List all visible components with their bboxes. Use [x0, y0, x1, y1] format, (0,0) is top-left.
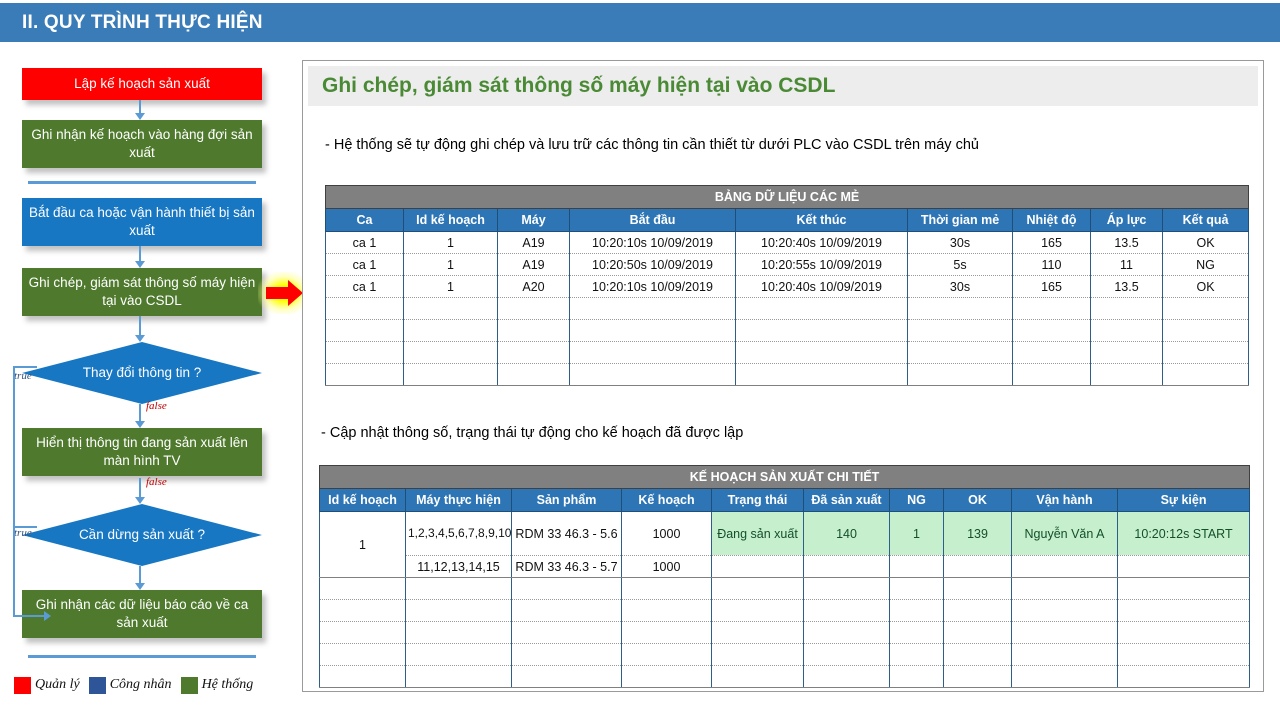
cell-empty[interactable]	[712, 622, 804, 644]
col-header-ca[interactable]: Ca	[326, 209, 404, 232]
edge-label-true-2: true	[14, 527, 32, 539]
true-branch-stub-1	[13, 366, 37, 368]
cell-empty[interactable]	[804, 644, 890, 666]
table-row-empty[interactable]	[320, 578, 1250, 600]
cell-empty[interactable]	[326, 342, 404, 364]
table-title-row: KẾ HOẠCH SẢN XUẤT CHI TIẾT	[320, 466, 1250, 489]
section-divider-bottom	[28, 655, 256, 658]
cell-empty[interactable]	[1091, 342, 1163, 364]
col-header-plan[interactable]: Kế hoạch	[622, 489, 712, 512]
table-title: BẢNG DỮ LIỆU CÁC MẺ	[326, 186, 1249, 209]
cell-empty[interactable]	[1091, 364, 1163, 386]
table-row-empty[interactable]	[326, 342, 1249, 364]
cell-empty[interactable]	[622, 600, 712, 622]
cell-empty[interactable]	[512, 600, 622, 622]
cell-empty[interactable]	[326, 320, 404, 342]
cell-empty[interactable]	[944, 666, 1012, 688]
flow-node-show-tv[interactable]: Hiển thị thông tin đang sản xuất lên màn…	[22, 428, 262, 476]
table-row-empty[interactable]	[320, 600, 1250, 622]
cell-empty[interactable]	[908, 320, 1013, 342]
cell-empty[interactable]	[890, 600, 944, 622]
cell-operator[interactable]: Nguyễn Văn A	[1012, 512, 1118, 556]
table-row[interactable]: ca 1 1 A19 10:20:50s 10/09/2019 10:20:55…	[326, 254, 1249, 276]
col-header-start[interactable]: Bắt đầu	[570, 209, 736, 232]
cell-empty[interactable]	[736, 342, 908, 364]
col-header-machines[interactable]: Máy thực hiện	[406, 489, 512, 512]
col-header-plan-id[interactable]: Id kế hoạch	[320, 489, 406, 512]
cell-empty[interactable]	[512, 578, 622, 600]
cell-empty[interactable]	[404, 320, 498, 342]
cell-empty[interactable]	[498, 320, 570, 342]
cell-ca[interactable]: ca 1	[326, 232, 404, 254]
cell-empty[interactable]	[712, 600, 804, 622]
col-header-pressure[interactable]: Áp lực	[1091, 209, 1163, 232]
table-title: KẾ HOẠCH SẢN XUẤT CHI TIẾT	[320, 466, 1250, 489]
cell-empty[interactable]	[406, 622, 512, 644]
cell-empty[interactable]	[320, 666, 406, 688]
cell-empty[interactable]	[890, 666, 944, 688]
flow-node-record[interactable]: Ghi chép, giám sát thông số máy hiện tại…	[22, 268, 262, 316]
cell-temperature[interactable]: 165	[1013, 276, 1091, 298]
cell-empty[interactable]	[944, 600, 1012, 622]
cell-empty[interactable]	[712, 578, 804, 600]
cell-empty[interactable]	[804, 600, 890, 622]
flow-node-label: Ghi chép, giám sát thông số máy hiện tại…	[28, 274, 256, 310]
table-row-empty[interactable]	[320, 644, 1250, 666]
cell-empty[interactable]	[890, 578, 944, 600]
cell-batch-time[interactable]: 30s	[908, 276, 1013, 298]
cell-machines[interactable]: 1,2,3,4,5,6,7,8,9,10	[406, 512, 512, 556]
cell-empty[interactable]	[570, 320, 736, 342]
cell-plan-id[interactable]: 1	[320, 512, 406, 578]
legend-item-manager: Quản lý	[14, 677, 80, 694]
legend-swatch-manager	[14, 677, 31, 694]
table-row-empty[interactable]	[326, 320, 1249, 342]
cell-event[interactable]	[1118, 556, 1250, 578]
col-header-product[interactable]: Sản phẩm	[512, 489, 622, 512]
flow-node-label: Thay đổi thông tin ?	[83, 364, 202, 382]
cell-empty[interactable]	[406, 578, 512, 600]
arrowhead-icon	[135, 113, 145, 120]
table-production-plan[interactable]: KẾ HOẠCH SẢN XUẤT CHI TIẾT Id kế hoạch M…	[319, 465, 1250, 688]
table-header-row: Ca Id kế hoạch Máy Bắt đầu Kết thúc Thời…	[326, 209, 1249, 232]
cell-machine[interactable]: A20	[498, 276, 570, 298]
edge-label-false-1: false	[146, 400, 167, 412]
cell-empty[interactable]	[498, 364, 570, 386]
panel-note-2: - Cập nhật thông số, trạng thái tự động …	[321, 425, 743, 441]
cell-empty[interactable]	[1012, 622, 1118, 644]
col-header-plan-id[interactable]: Id kế hoạch	[404, 209, 498, 232]
cell-empty[interactable]	[1091, 320, 1163, 342]
cell-empty[interactable]	[622, 666, 712, 688]
col-header-batch-time[interactable]: Thời gian mẻ	[908, 209, 1013, 232]
cell-pressure[interactable]: 13.5	[1091, 232, 1163, 254]
cell-empty[interactable]	[404, 342, 498, 364]
cell-plan-id[interactable]: 1	[404, 276, 498, 298]
cell-empty[interactable]	[736, 320, 908, 342]
cell-empty[interactable]	[512, 622, 622, 644]
cell-empty[interactable]	[908, 342, 1013, 364]
cell-plan[interactable]: 1000	[622, 556, 712, 578]
edge-label-false-2: false	[146, 476, 167, 488]
cell-plan[interactable]: 1000	[622, 512, 712, 556]
cell-empty[interactable]	[804, 578, 890, 600]
cell-empty[interactable]	[406, 644, 512, 666]
flow-node-label: Hiển thị thông tin đang sản xuất lên màn…	[28, 434, 256, 470]
cell-end[interactable]: 10:20:40s 10/09/2019	[736, 276, 908, 298]
cell-empty[interactable]	[326, 298, 404, 320]
panel-title: Ghi chép, giám sát thông số máy hiện tại…	[322, 74, 835, 98]
cell-empty[interactable]	[512, 644, 622, 666]
cell-empty[interactable]	[712, 666, 804, 688]
cell-machine[interactable]: A19	[498, 254, 570, 276]
table-row-empty[interactable]	[320, 622, 1250, 644]
cell-produced[interactable]: 140	[804, 512, 890, 556]
cell-ng[interactable]	[890, 556, 944, 578]
cell-empty[interactable]	[1163, 320, 1249, 342]
cell-empty[interactable]	[1118, 578, 1250, 600]
cell-empty[interactable]	[1118, 600, 1250, 622]
cell-result[interactable]: NG	[1163, 254, 1249, 276]
cell-empty[interactable]	[498, 298, 570, 320]
cell-ok[interactable]	[944, 556, 1012, 578]
flow-node-report[interactable]: Ghi nhận các dữ liệu báo cáo về ca sản x…	[22, 590, 262, 638]
cell-result[interactable]: OK	[1163, 232, 1249, 254]
flow-node-queue[interactable]: Ghi nhận kế hoạch vào hàng đợi sản xuất	[22, 120, 262, 168]
col-header-end[interactable]: Kết thúc	[736, 209, 908, 232]
cell-product[interactable]: RDM 33 46.3 - 5.7	[512, 556, 622, 578]
table-row-empty[interactable]	[326, 364, 1249, 386]
flow-node-start-shift[interactable]: Bắt đầu ca hoặc vận hành thiết bị sản xu…	[22, 198, 262, 246]
table-row[interactable]: ca 1 1 A19 10:20:10s 10/09/2019 10:20:40…	[326, 232, 1249, 254]
cell-empty[interactable]	[406, 600, 512, 622]
col-header-operator[interactable]: Vận hành	[1012, 489, 1118, 512]
detail-panel: Ghi chép, giám sát thông số máy hiện tại…	[302, 60, 1264, 692]
cell-empty[interactable]	[622, 578, 712, 600]
cell-empty[interactable]	[1013, 342, 1091, 364]
flow-decision-need-stop[interactable]: Cần dừng sản xuất ?	[22, 504, 262, 566]
cell-ca[interactable]: ca 1	[326, 276, 404, 298]
cell-empty[interactable]	[890, 622, 944, 644]
cell-machines[interactable]: 11,12,13,14,15	[406, 556, 512, 578]
cell-empty[interactable]	[1012, 600, 1118, 622]
cell-empty[interactable]	[320, 622, 406, 644]
flow-node-label: Lập kế hoạch sản xuất	[74, 75, 210, 93]
col-header-produced[interactable]: Đã sản xuất	[804, 489, 890, 512]
cell-empty[interactable]	[570, 342, 736, 364]
cell-result[interactable]: OK	[1163, 276, 1249, 298]
cell-empty[interactable]	[326, 364, 404, 386]
table-row[interactable]: ca 1 1 A20 10:20:10s 10/09/2019 10:20:40…	[326, 276, 1249, 298]
cell-empty[interactable]	[320, 600, 406, 622]
arrowhead-icon	[135, 335, 145, 342]
true-branch-stub-2	[13, 526, 37, 528]
arrowhead-icon	[135, 261, 145, 268]
cell-empty[interactable]	[736, 298, 908, 320]
cell-empty[interactable]	[890, 644, 944, 666]
cell-start[interactable]: 10:20:10s 10/09/2019	[570, 276, 736, 298]
panel-header: Ghi chép, giám sát thông số máy hiện tại…	[308, 66, 1258, 106]
cell-ng[interactable]: 1	[890, 512, 944, 556]
legend-label-manager: Quản lý	[35, 677, 80, 693]
table-row-empty[interactable]	[326, 298, 1249, 320]
col-header-result[interactable]: Kết quả	[1163, 209, 1249, 232]
cell-end[interactable]: 10:20:55s 10/09/2019	[736, 254, 908, 276]
flow-node-label: Bắt đầu ca hoặc vận hành thiết bị sản xu…	[28, 204, 256, 240]
cell-empty[interactable]	[944, 578, 1012, 600]
table-header-row: Id kế hoạch Máy thực hiện Sản phẩm Kế ho…	[320, 489, 1250, 512]
arrow-head	[288, 280, 303, 306]
col-header-temperature[interactable]: Nhiệt độ	[1013, 209, 1091, 232]
cell-operator[interactable]	[1012, 556, 1118, 578]
cell-empty[interactable]	[1163, 364, 1249, 386]
cell-empty[interactable]	[1012, 666, 1118, 688]
arrowhead-icon	[44, 611, 51, 621]
cell-empty[interactable]	[1118, 622, 1250, 644]
table-row[interactable]: 1 1,2,3,4,5,6,7,8,9,10 RDM 33 46.3 - 5.6…	[320, 512, 1250, 556]
cell-empty[interactable]	[944, 644, 1012, 666]
arrowhead-icon	[135, 421, 145, 428]
cell-empty[interactable]	[406, 666, 512, 688]
legend: Quản lý Công nhân Hệ thống	[14, 672, 314, 698]
cell-empty[interactable]	[908, 364, 1013, 386]
cell-empty[interactable]	[1013, 320, 1091, 342]
cell-machine[interactable]: A19	[498, 232, 570, 254]
flow-node-label: Cần dừng sản xuất ?	[79, 526, 205, 544]
cell-empty[interactable]	[404, 364, 498, 386]
legend-item-system: Hệ thống	[181, 677, 254, 694]
cell-batch-time[interactable]: 30s	[908, 232, 1013, 254]
cell-plan-id[interactable]: 1	[404, 254, 498, 276]
legend-label-worker: Công nhân	[110, 677, 172, 693]
cell-ok[interactable]: 139	[944, 512, 1012, 556]
cell-empty[interactable]	[1012, 644, 1118, 666]
table-title-row: BẢNG DỮ LIỆU CÁC MẺ	[326, 186, 1249, 209]
cell-empty[interactable]	[1163, 342, 1249, 364]
cell-status[interactable]: Đang sản xuất	[712, 512, 804, 556]
table-row[interactable]: 11,12,13,14,15 RDM 33 46.3 - 5.7 1000	[320, 556, 1250, 578]
page-title-bar: II. QUY TRÌNH THỰC HIỆN	[0, 3, 1280, 42]
cell-empty[interactable]	[1163, 298, 1249, 320]
flow-node-label: Ghi nhận các dữ liệu báo cáo về ca sản x…	[28, 596, 256, 632]
col-header-event[interactable]: Sự kiện	[1118, 489, 1250, 512]
panel-note-1: - Hệ thống sẽ tự động ghi chép và lưu tr…	[325, 137, 979, 153]
cell-empty[interactable]	[1013, 364, 1091, 386]
arrowhead-icon	[135, 497, 145, 504]
table-batches[interactable]: BẢNG DỮ LIỆU CÁC MẺ Ca Id kế hoạch Máy B…	[325, 185, 1249, 386]
cell-empty[interactable]	[1118, 666, 1250, 688]
cell-empty[interactable]	[570, 298, 736, 320]
cell-empty[interactable]	[622, 644, 712, 666]
flow-decision-change-info[interactable]: Thay đổi thông tin ?	[22, 342, 262, 404]
cell-ca[interactable]: ca 1	[326, 254, 404, 276]
cell-empty[interactable]	[622, 622, 712, 644]
col-header-machine[interactable]: Máy	[498, 209, 570, 232]
arrowhead-icon	[135, 583, 145, 590]
cell-pressure[interactable]: 13.5	[1091, 276, 1163, 298]
cell-start[interactable]: 10:20:10s 10/09/2019	[570, 232, 736, 254]
edge-label-true-1: true	[14, 370, 32, 382]
cell-empty[interactable]	[804, 666, 890, 688]
cell-empty[interactable]	[512, 666, 622, 688]
legend-swatch-system	[181, 677, 198, 694]
col-header-ng[interactable]: NG	[890, 489, 944, 512]
page-title: II. QUY TRÌNH THỰC HIỆN	[22, 12, 263, 34]
cell-empty[interactable]	[736, 364, 908, 386]
table-row-empty[interactable]	[320, 666, 1250, 688]
cell-status[interactable]	[712, 556, 804, 578]
cell-empty[interactable]	[908, 298, 1013, 320]
cell-empty[interactable]	[498, 342, 570, 364]
cell-event[interactable]: 10:20:12s START	[1118, 512, 1250, 556]
cell-end[interactable]: 10:20:40s 10/09/2019	[736, 232, 908, 254]
cell-start[interactable]: 10:20:50s 10/09/2019	[570, 254, 736, 276]
legend-swatch-worker	[89, 677, 106, 694]
legend-label-system: Hệ thống	[202, 677, 254, 693]
cell-empty[interactable]	[570, 364, 736, 386]
cell-empty[interactable]	[320, 644, 406, 666]
cell-temperature[interactable]: 110	[1013, 254, 1091, 276]
cell-empty[interactable]	[404, 298, 498, 320]
cell-product[interactable]: RDM 33 46.3 - 5.6	[512, 512, 622, 556]
cell-empty[interactable]	[712, 644, 804, 666]
legend-item-worker: Công nhân	[89, 677, 172, 694]
true-branch-rail-1	[13, 366, 15, 616]
cell-pressure[interactable]: 11	[1091, 254, 1163, 276]
cell-produced[interactable]	[804, 556, 890, 578]
cell-empty[interactable]	[944, 622, 1012, 644]
cell-empty[interactable]	[1091, 298, 1163, 320]
cell-batch-time[interactable]: 5s	[908, 254, 1013, 276]
col-header-status[interactable]: Trạng thái	[712, 489, 804, 512]
cell-empty[interactable]	[320, 578, 406, 600]
cell-empty[interactable]	[1012, 578, 1118, 600]
cell-empty[interactable]	[1013, 298, 1091, 320]
cell-plan-id[interactable]: 1	[404, 232, 498, 254]
flow-node-plan[interactable]: Lập kế hoạch sản xuất	[22, 68, 262, 100]
col-header-ok[interactable]: OK	[944, 489, 1012, 512]
section-divider-top	[28, 181, 256, 184]
arrow-shaft	[266, 287, 290, 299]
process-flowchart: Lập kế hoạch sản xuất Ghi nhận kế hoạch …	[0, 48, 300, 668]
cell-empty[interactable]	[804, 622, 890, 644]
flow-node-label: Ghi nhận kế hoạch vào hàng đợi sản xuất	[28, 126, 256, 162]
cell-empty[interactable]	[1118, 644, 1250, 666]
cell-temperature[interactable]: 165	[1013, 232, 1091, 254]
